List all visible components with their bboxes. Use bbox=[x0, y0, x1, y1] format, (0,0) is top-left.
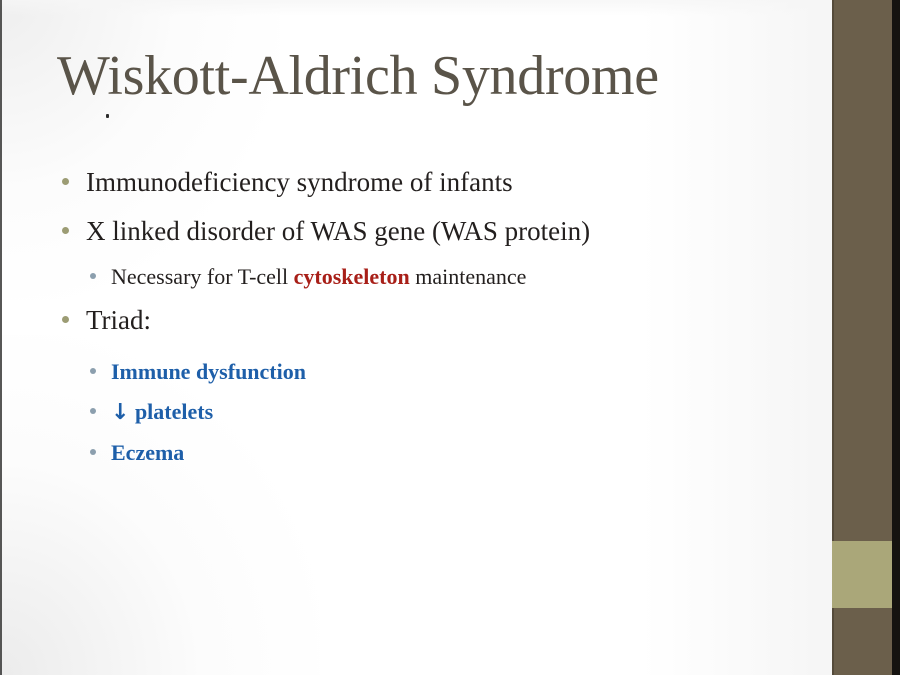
decorative-sidebar bbox=[832, 0, 892, 675]
bullet-dot-icon bbox=[62, 178, 69, 185]
bullet-dot-icon bbox=[62, 316, 69, 323]
presentation-slide: Wiskott-Aldrich Syndrome Immunodeficienc… bbox=[0, 0, 900, 675]
slide-title: Wiskott-Aldrich Syndrome bbox=[57, 48, 797, 104]
bullet-text: ↓ platelets bbox=[111, 393, 213, 432]
bullet-text: Necessary for T-cell cytoskeleton mainte… bbox=[111, 258, 526, 296]
down-arrow-icon: ↓ bbox=[111, 400, 129, 425]
bullet-text-label: platelets bbox=[135, 399, 213, 424]
bullet-text: X linked disorder of WAS gene (WAS prote… bbox=[86, 209, 590, 253]
bullet-text-suffix: maintenance bbox=[410, 264, 527, 289]
bullet-item-x-linked-disorder: X linked disorder of WAS gene (WAS prote… bbox=[0, 209, 800, 253]
highlight-cytoskeleton: cytoskeleton bbox=[294, 264, 410, 289]
sidebar-accent-block bbox=[832, 541, 892, 608]
bullet-item-low-platelets: ↓ platelets bbox=[0, 393, 800, 432]
bullet-text-prefix: Necessary for T-cell bbox=[111, 264, 294, 289]
bullet-dot-icon bbox=[62, 227, 69, 234]
bullet-item-immunodeficiency: Immunodeficiency syndrome of infants bbox=[0, 160, 800, 204]
bullet-text: Immunodeficiency syndrome of infants bbox=[86, 160, 513, 204]
bullet-text: Eczema bbox=[111, 434, 184, 472]
bullet-dot-icon bbox=[90, 449, 96, 455]
bullet-dot-icon bbox=[90, 368, 96, 374]
bullet-text: Triad: bbox=[86, 298, 151, 342]
bullet-item-eczema: Eczema bbox=[0, 434, 800, 472]
sidebar-outer-dark-strip bbox=[892, 0, 900, 675]
bullet-dot-icon bbox=[90, 273, 96, 279]
bullet-text: Immune dysfunction bbox=[111, 353, 306, 391]
bullet-item-immune-dysfunction: Immune dysfunction bbox=[0, 353, 800, 391]
bullet-item-triad: Triad: bbox=[0, 298, 800, 342]
slide-body-bullet-list: Immunodeficiency syndrome of infants X l… bbox=[0, 160, 800, 474]
bullet-dot-icon bbox=[90, 408, 96, 414]
cursor-artifact-dot bbox=[106, 114, 109, 118]
bullet-item-tcell-cytoskeleton: Necessary for T-cell cytoskeleton mainte… bbox=[0, 258, 800, 296]
